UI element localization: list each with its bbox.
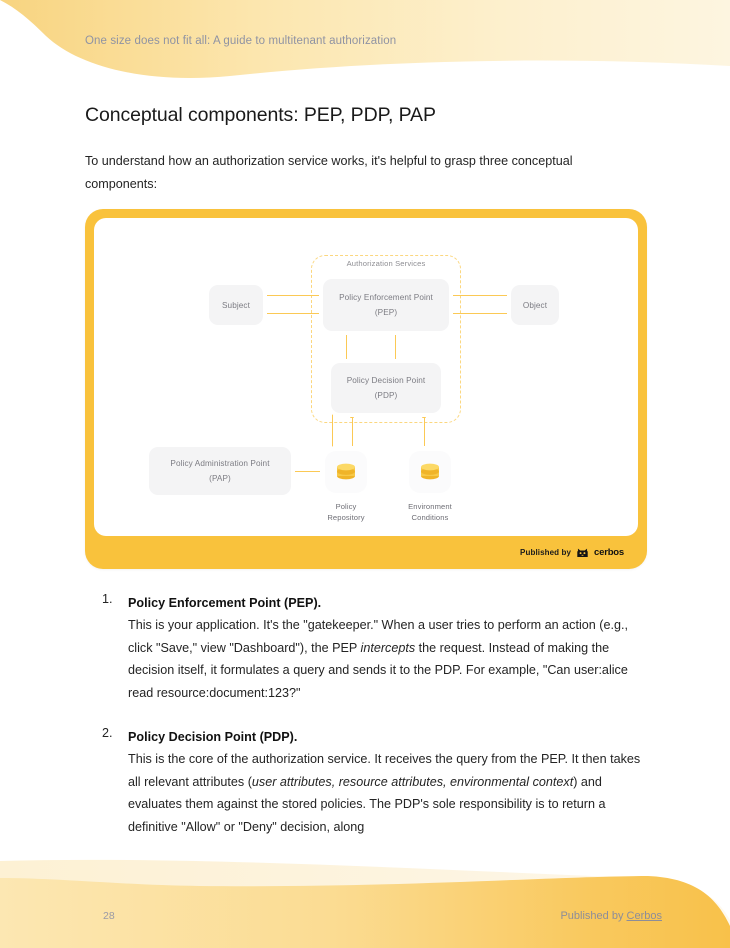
diagram-store-environment-conditions bbox=[409, 451, 451, 493]
list-item-lead: Policy Decision Point (PDP). bbox=[128, 726, 645, 748]
arrow-line-pdp-to-policy-repo bbox=[332, 414, 333, 455]
node-pdp-sublabel: (PDP) bbox=[375, 388, 398, 403]
diagram-canvas: Authorization Services bbox=[94, 218, 638, 536]
arrow-line-pep-to-subject bbox=[264, 313, 323, 314]
document-page: One size does not fit all: A guide to mu… bbox=[0, 0, 730, 948]
list-item: 1. Policy Enforcement Point (PEP). This … bbox=[85, 592, 645, 704]
list-item-number: 1. bbox=[102, 592, 113, 606]
store-policy-label-line2: Repository bbox=[303, 512, 389, 523]
list-item-body: This is the core of the authorization se… bbox=[128, 748, 645, 838]
diagram-attribution-badge: Published by cerbos bbox=[94, 536, 638, 569]
arrow-line-subject-to-pep bbox=[263, 295, 320, 296]
diagram-node-object: Object bbox=[511, 285, 559, 325]
intro-paragraph: To understand how an authorization servi… bbox=[85, 150, 605, 195]
diagram-node-pep: Policy Enforcement Point (PEP) bbox=[323, 279, 449, 331]
footer-wave-decoration bbox=[0, 848, 730, 948]
node-pep-label: Policy Enforcement Point bbox=[339, 290, 433, 305]
store-environment-conditions-label: Environment Conditions bbox=[387, 501, 473, 523]
node-pdp-label: Policy Decision Point bbox=[347, 373, 426, 388]
store-env-label-line2: Conditions bbox=[387, 512, 473, 523]
list-item: 2. Policy Decision Point (PDP). This is … bbox=[85, 726, 645, 838]
database-cylinder-icon bbox=[417, 459, 443, 485]
diagram-brand-name: cerbos bbox=[594, 547, 624, 558]
store-policy-label-line1: Policy bbox=[303, 501, 389, 512]
diagram-published-by-label: Published by bbox=[520, 548, 571, 557]
arrow-head-object-to-pep bbox=[449, 310, 453, 314]
diagram-node-subject: Subject bbox=[209, 285, 263, 325]
arrow-head-policy-repo-to-pdp bbox=[350, 414, 354, 418]
page-title: Conceptual components: PEP, PDP, PAP bbox=[85, 104, 436, 127]
components-list: 1. Policy Enforcement Point (PEP). This … bbox=[85, 592, 645, 860]
store-env-label-line1: Environment bbox=[387, 501, 473, 512]
arrow-head-env-to-pdp bbox=[422, 414, 426, 418]
running-header-title: One size does not fit all: A guide to mu… bbox=[85, 35, 396, 47]
diagram-node-pdp: Policy Decision Point (PDP) bbox=[331, 363, 441, 413]
diagram-store-policy-repository bbox=[325, 451, 367, 493]
cerbos-cat-icon bbox=[576, 546, 589, 559]
list-item-number: 2. bbox=[102, 726, 113, 740]
node-object-label: Object bbox=[523, 298, 547, 313]
store-policy-repository-label: Policy Repository bbox=[303, 501, 389, 523]
footer-brand-link[interactable]: Cerbos bbox=[627, 910, 662, 922]
list-item-lead: Policy Enforcement Point (PEP). bbox=[128, 592, 645, 614]
arrow-line-object-to-pep bbox=[453, 313, 513, 314]
node-pep-sublabel: (PEP) bbox=[375, 305, 397, 320]
node-pap-sublabel: (PAP) bbox=[209, 471, 231, 486]
database-cylinder-icon bbox=[333, 459, 359, 485]
authorization-services-label: Authorization Services bbox=[311, 259, 461, 268]
footer-published-by-label: Published by bbox=[560, 910, 623, 922]
diagram-frame: Authorization Services bbox=[85, 209, 647, 569]
arrow-line-pep-to-object bbox=[450, 295, 511, 296]
page-number: 28 bbox=[103, 910, 115, 922]
diagram-node-pap: Policy Administration Point (PAP) bbox=[149, 447, 291, 495]
arrow-line-pap-to-policy-repo bbox=[292, 471, 324, 472]
list-item-body: This is your application. It's the "gate… bbox=[128, 614, 645, 704]
arrow-head-pdp-to-pep bbox=[393, 331, 397, 335]
node-subject-label: Subject bbox=[222, 298, 250, 313]
footer-attribution: Published by Cerbos bbox=[560, 910, 662, 922]
node-pap-label: Policy Administration Point bbox=[170, 456, 269, 471]
